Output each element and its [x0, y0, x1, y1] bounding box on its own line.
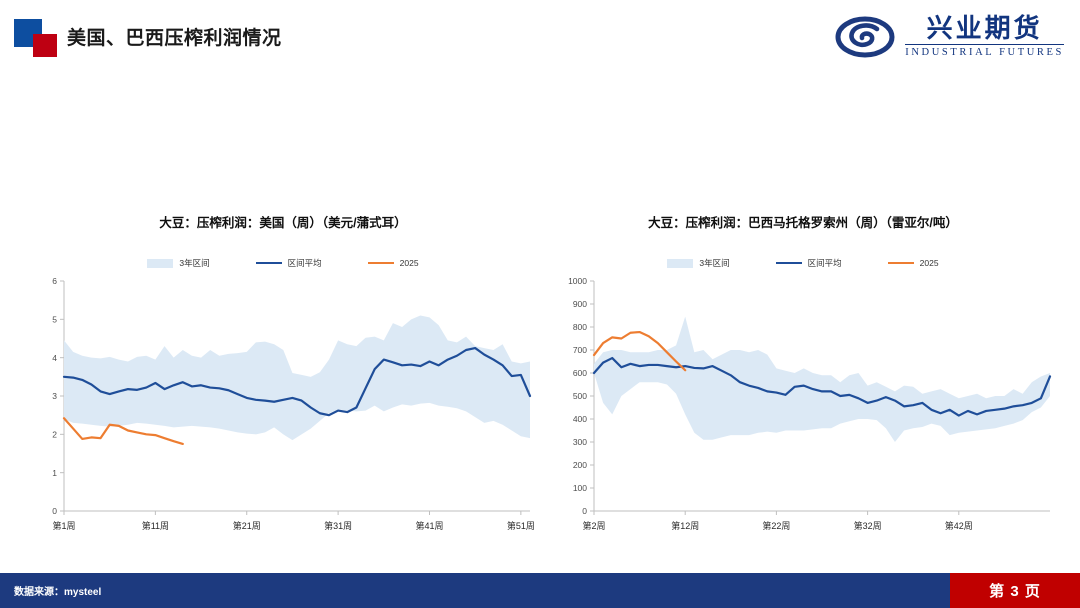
svg-text:第21周: 第21周	[233, 520, 261, 531]
svg-text:4: 4	[52, 353, 57, 363]
legend-item-band: 3年区间	[667, 257, 729, 269]
svg-text:900: 900	[573, 299, 587, 309]
legend-item-average: 区间平均	[776, 257, 842, 269]
legend-swatch-current-icon	[368, 262, 394, 264]
svg-text:500: 500	[573, 391, 587, 401]
svg-text:第11周: 第11周	[142, 520, 169, 531]
swirl-logo-icon	[835, 13, 895, 61]
chart-title-us: 大豆：压榨利润：美国（周）（美元/蒲式耳）	[28, 212, 538, 231]
slide-header: 美国、巴西压榨利润情况 兴业期货 INDUSTRIAL FUTURES	[0, 0, 1080, 72]
svg-text:1: 1	[52, 468, 57, 478]
legend-label-band: 3年区间	[179, 257, 209, 269]
red-square-icon	[33, 34, 57, 57]
svg-text:第32周: 第32周	[854, 520, 882, 531]
svg-text:第51周: 第51周	[507, 520, 535, 531]
brand-name-en: INDUSTRIAL FUTURES	[905, 44, 1064, 59]
legend-item-average: 区间平均	[256, 257, 322, 269]
brand-name-cn: 兴业期货	[927, 15, 1043, 41]
svg-text:5: 5	[52, 315, 57, 325]
svg-text:2: 2	[52, 430, 57, 440]
svg-text:1000: 1000	[568, 276, 587, 286]
brand-squares-logo	[14, 19, 62, 57]
svg-text:6: 6	[52, 276, 57, 286]
legend-item-band: 3年区间	[147, 257, 209, 269]
slide-footer: 数据来源：mysteel 第 3 页	[0, 573, 1080, 608]
svg-text:100: 100	[573, 483, 587, 493]
svg-text:0: 0	[582, 506, 587, 516]
svg-text:600: 600	[573, 368, 587, 378]
svg-text:第2周: 第2周	[582, 520, 605, 531]
svg-text:0: 0	[52, 506, 57, 516]
legend-label-average: 区间平均	[288, 257, 322, 269]
chart-legend-us: 3年区间 区间平均 2025	[28, 257, 538, 269]
svg-text:200: 200	[573, 460, 587, 470]
data-source-label: 数据来源：mysteel	[14, 573, 101, 608]
plot-area-us: 0123456第1周第11周第21周第31周第41周第51周	[28, 275, 538, 545]
legend-label-band: 3年区间	[699, 257, 729, 269]
chart-legend-brazil: 3年区间 区间平均 2025	[548, 257, 1058, 269]
legend-swatch-band-icon	[147, 259, 173, 268]
chart-svg-brazil: 01002003004005006007008009001000第2周第12周第…	[548, 275, 1058, 545]
svg-text:3: 3	[52, 391, 57, 401]
company-logo: 兴业期货 INDUSTRIAL FUTURES	[835, 8, 1064, 66]
legend-swatch-current-icon	[888, 262, 914, 264]
legend-item-current: 2025	[368, 258, 419, 268]
legend-swatch-band-icon	[667, 259, 693, 268]
plot-area-brazil: 01002003004005006007008009001000第2周第12周第…	[548, 275, 1058, 545]
chart-svg-us: 0123456第1周第11周第21周第31周第41周第51周	[28, 275, 538, 545]
legend-label-current: 2025	[400, 258, 419, 268]
svg-text:300: 300	[573, 437, 587, 447]
svg-text:700: 700	[573, 345, 587, 355]
chart-panel-brazil: 大豆：压榨利润：巴西马托格罗索州（周）（雷亚尔/吨） 3年区间 区间平均 202…	[548, 212, 1058, 557]
page-title: 美国、巴西压榨利润情况	[67, 23, 282, 50]
chart-title-brazil: 大豆：压榨利润：巴西马托格罗索州（周）（雷亚尔/吨）	[548, 212, 1058, 231]
svg-text:第1周: 第1周	[52, 520, 75, 531]
legend-label-average: 区间平均	[808, 257, 842, 269]
svg-text:第42周: 第42周	[945, 520, 973, 531]
svg-text:400: 400	[573, 414, 587, 424]
svg-text:第12周: 第12周	[671, 520, 699, 531]
svg-text:第31周: 第31周	[324, 520, 352, 531]
page-number-badge: 第 3 页	[950, 573, 1080, 608]
legend-swatch-average-icon	[776, 262, 802, 264]
svg-text:第22周: 第22周	[762, 520, 790, 531]
legend-label-current: 2025	[920, 258, 939, 268]
svg-text:800: 800	[573, 322, 587, 332]
svg-text:第41周: 第41周	[415, 520, 443, 531]
legend-swatch-average-icon	[256, 262, 282, 264]
legend-item-current: 2025	[888, 258, 939, 268]
chart-panel-us: 大豆：压榨利润：美国（周）（美元/蒲式耳） 3年区间 区间平均 2025 012…	[28, 212, 538, 557]
